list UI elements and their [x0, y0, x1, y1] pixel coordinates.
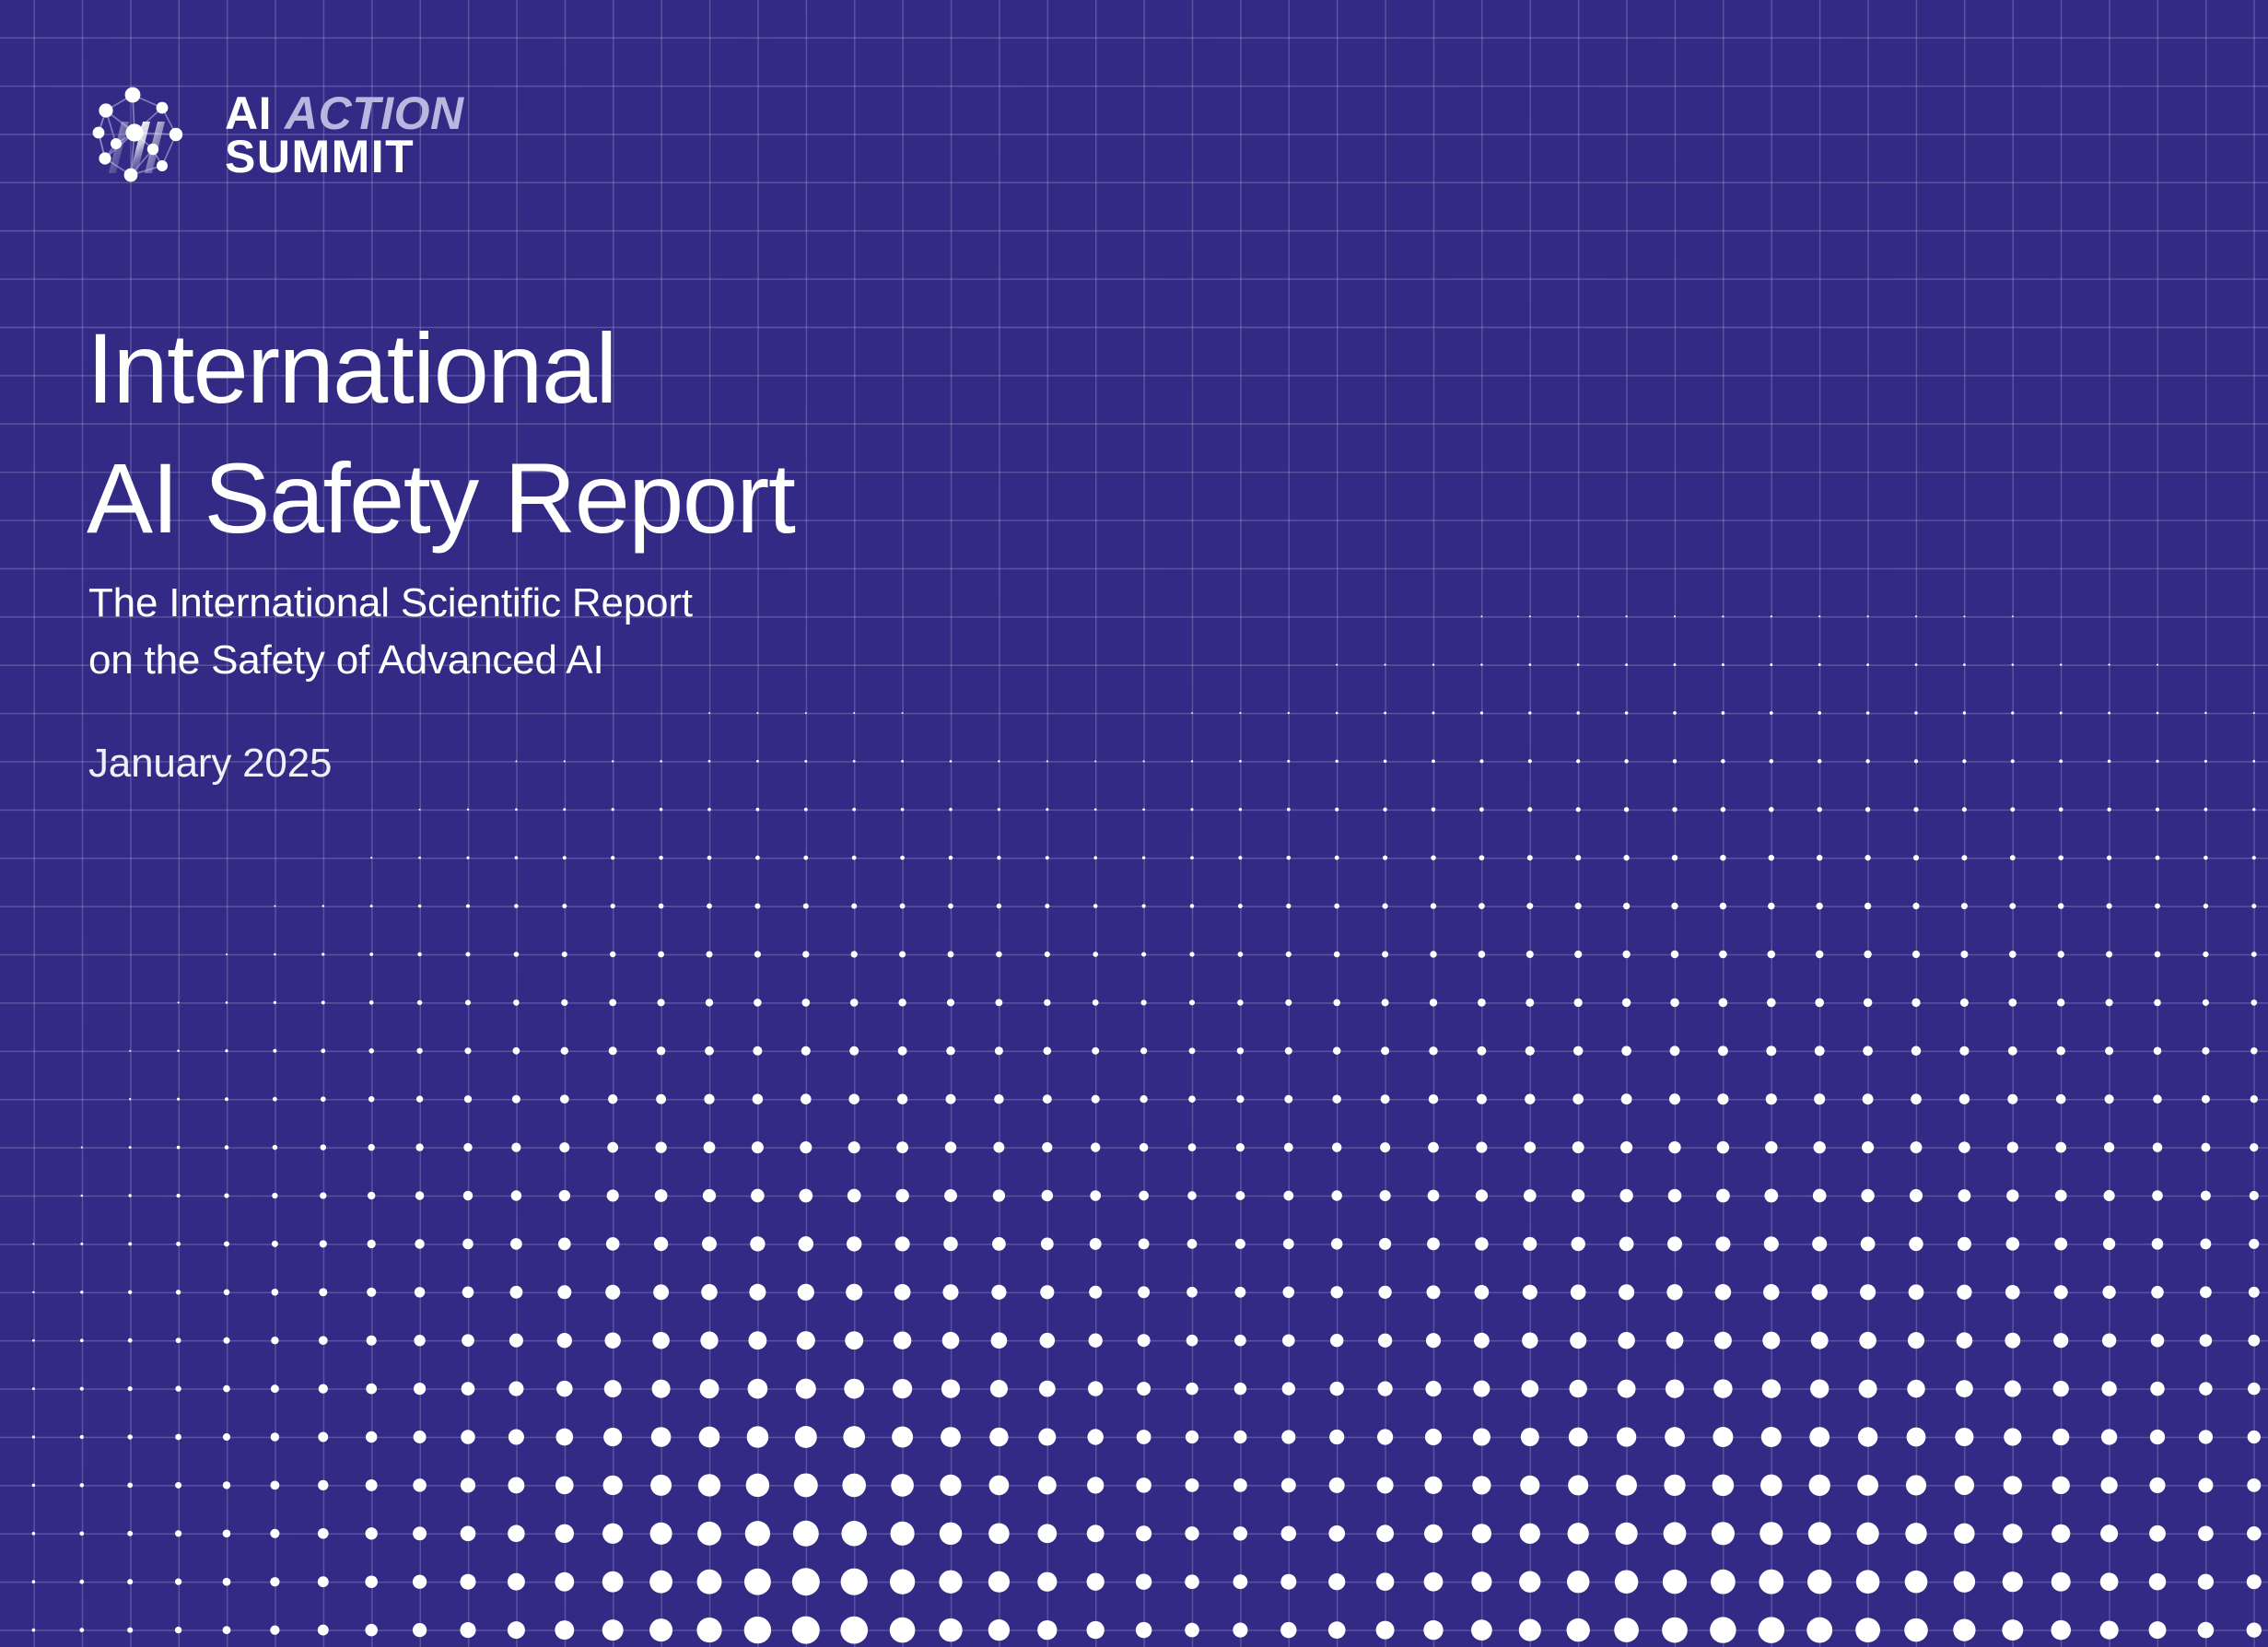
- logo-line-one: AIACTION: [225, 92, 464, 136]
- page-subtitle: The International Scientific Report on t…: [88, 575, 693, 690]
- logo-summit-text: SUMMIT: [225, 135, 464, 180]
- network-node-graph-icon: [88, 77, 201, 190]
- logo-wordmark: AIACTION SUMMIT: [225, 92, 464, 180]
- publication-date: January 2025: [88, 741, 332, 787]
- cover-content: AIACTION SUMMIT International AI Safety …: [0, 0, 2268, 1647]
- ai-action-summit-logo: AIACTION SUMMIT: [88, 77, 464, 190]
- report-cover-page: AIACTION SUMMIT International AI Safety …: [0, 0, 2268, 1647]
- page-title: International AI Safety Report: [87, 304, 794, 563]
